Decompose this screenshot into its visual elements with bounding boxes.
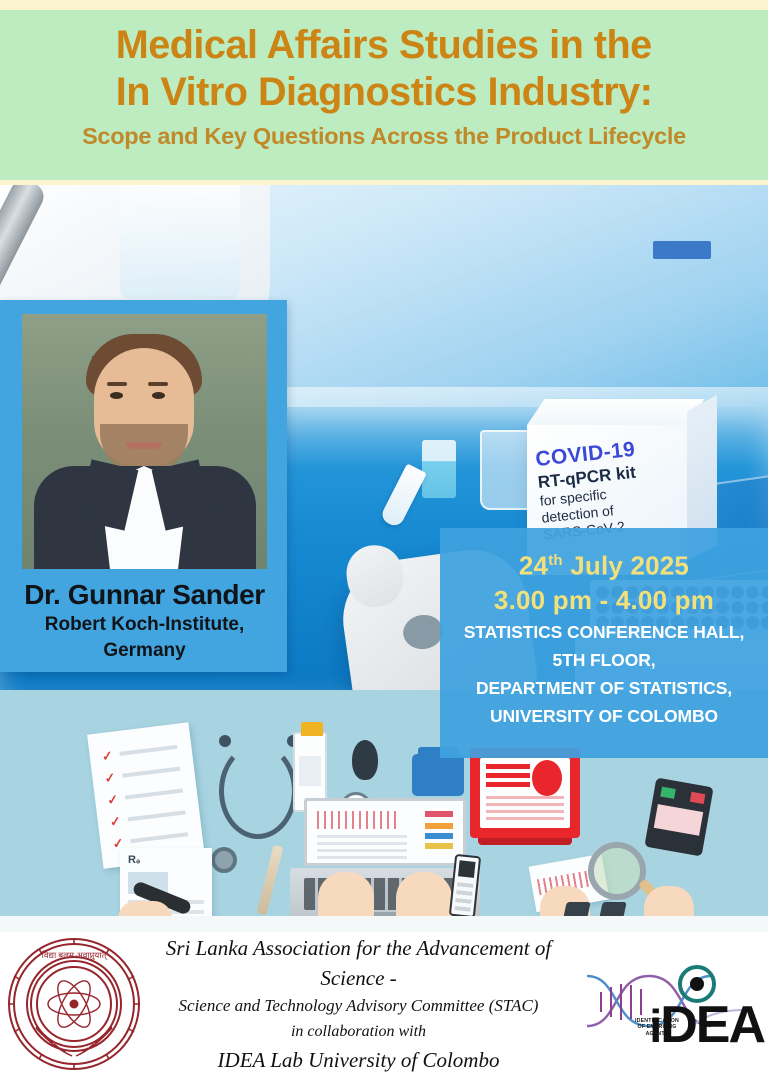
footer: विद्या बलम अवाप्नुयात् Sri Lanka Associa… bbox=[0, 932, 768, 1076]
event-details-panel: 24th July 2025 3.00 pm - 4.00 pm STATIST… bbox=[440, 528, 768, 758]
blue-label-sticker bbox=[653, 241, 711, 259]
portrait-eye-right bbox=[152, 392, 165, 399]
idea-wordmark-d: D bbox=[660, 996, 696, 1054]
event-date: 24th July 2025 bbox=[450, 544, 758, 583]
speaker-name: Dr. Gunnar Sander bbox=[22, 579, 267, 611]
event-venue-line-3: DEPARTMENT OF STATISTICS, bbox=[450, 676, 758, 701]
event-venue-line-1: STATISTICS CONFERENCE HALL, bbox=[450, 620, 758, 645]
event-date-day: 24 bbox=[519, 551, 548, 581]
desk-edge bbox=[0, 916, 768, 932]
first-aid-case-icon bbox=[470, 748, 580, 838]
slaas-emblem-svg: विद्या बलम अवाप्नुयात् bbox=[6, 936, 142, 1072]
idea-lab-logo-icon: IDENTIFICATION OF EMERGING AGENTS iDEA bbox=[579, 954, 764, 1054]
poster-root: Medical Affairs Studies in the In Vitro … bbox=[0, 0, 768, 1076]
footer-line-4: IDEA Lab University of Colombo bbox=[148, 1045, 569, 1076]
speaker-affiliation-line-1: Robert Koch-Institute, bbox=[22, 612, 267, 637]
kit-box-top-face bbox=[527, 399, 705, 425]
portrait-brow-right bbox=[148, 382, 168, 386]
event-venue-line-2: 5TH FLOOR, bbox=[450, 648, 758, 673]
poster-title-line-1: Medical Affairs Studies in the bbox=[116, 22, 652, 69]
portrait-brow-left bbox=[107, 382, 127, 386]
speaker-affiliation-line-2: Germany bbox=[22, 638, 267, 663]
idea-wordmark-e: E bbox=[696, 996, 729, 1054]
idea-wordmark: iDEA bbox=[649, 999, 764, 1052]
event-time: 3.00 pm - 4.00 pm bbox=[450, 583, 758, 617]
idea-wordmark-i: i bbox=[649, 1000, 660, 1052]
speaker-card: Dr. Gunnar Sander Robert Koch-Institute,… bbox=[0, 300, 287, 672]
poster-title-line-2: In Vitro Diagnostics Industry: bbox=[116, 69, 653, 116]
title-band: Medical Affairs Studies in the In Vitro … bbox=[0, 10, 768, 180]
footer-line-3: in collaboration with bbox=[148, 1019, 569, 1045]
event-venue-line-4: UNIVERSITY OF COLOMBO bbox=[450, 704, 758, 729]
event-date-rest: July 2025 bbox=[563, 551, 689, 581]
footer-line-1: Sri Lanka Association for the Advancemen… bbox=[148, 933, 569, 993]
footer-organisation-text: Sri Lanka Association for the Advancemen… bbox=[148, 933, 579, 1076]
portrait-mouth bbox=[126, 442, 162, 449]
test-tube-rack-back bbox=[120, 185, 240, 299]
event-date-suffix: th bbox=[548, 552, 563, 569]
handheld-monitor-icon bbox=[644, 777, 713, 856]
svg-text:विद्या बलम अवाप्नुयात्: विद्या बलम अवाप्नुयात् bbox=[42, 950, 109, 961]
portrait-eye-left bbox=[110, 392, 123, 399]
reagent-vial bbox=[422, 440, 456, 498]
poster-subtitle: Scope and Key Questions Across the Produ… bbox=[82, 120, 686, 152]
slaas-logo-icon: विद्या बलम अवाप्नुयात् bbox=[0, 934, 148, 1074]
speaker-portrait bbox=[22, 314, 267, 569]
checklist-document-icon: ✓ ✓ ✓ ✓ ✓ bbox=[87, 722, 205, 868]
idea-wordmark-a: A bbox=[728, 996, 764, 1054]
footer-line-2: Science and Technology Advisory Committe… bbox=[148, 993, 569, 1019]
